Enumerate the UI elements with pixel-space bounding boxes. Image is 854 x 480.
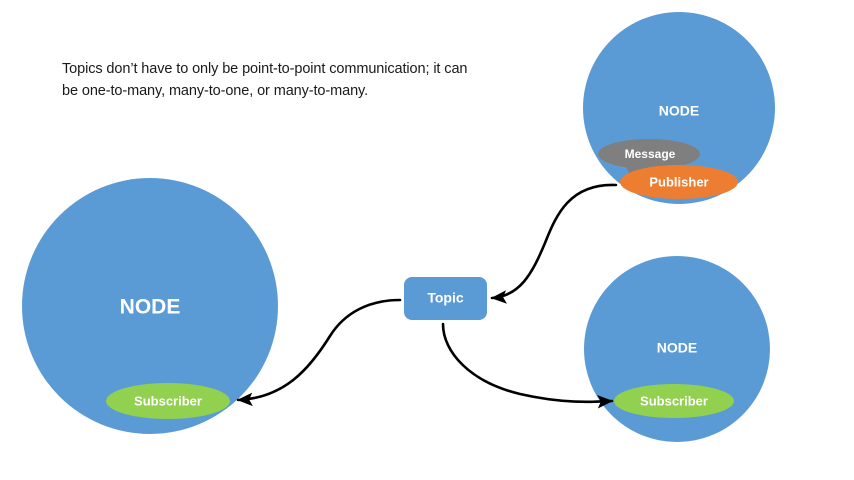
diagram-svg: NODE Subscriber NODE Message Publisher N… xyxy=(0,0,854,480)
topic-box-label: Topic xyxy=(427,290,464,306)
subscriber-pill-bottom-right-label: Subscriber xyxy=(640,393,708,408)
message-callout-label: Message xyxy=(625,147,676,161)
slide-canvas: Topics don’t have to only be point-to-po… xyxy=(0,0,854,480)
node-top-right-label: NODE xyxy=(659,103,699,119)
topic-box[interactable]: Topic xyxy=(404,277,487,320)
publisher-pill-label: Publisher xyxy=(649,174,708,189)
subscriber-pill-left-label: Subscriber xyxy=(134,393,202,408)
node-left[interactable]: NODE Subscriber xyxy=(22,178,278,434)
node-left-label: NODE xyxy=(120,296,181,319)
node-bottom-right[interactable]: NODE Subscriber xyxy=(584,256,770,442)
node-top-right[interactable]: NODE Message Publisher xyxy=(583,12,775,204)
node-bottom-right-label: NODE xyxy=(657,340,697,356)
edge-publisher-to-topic xyxy=(492,185,616,298)
